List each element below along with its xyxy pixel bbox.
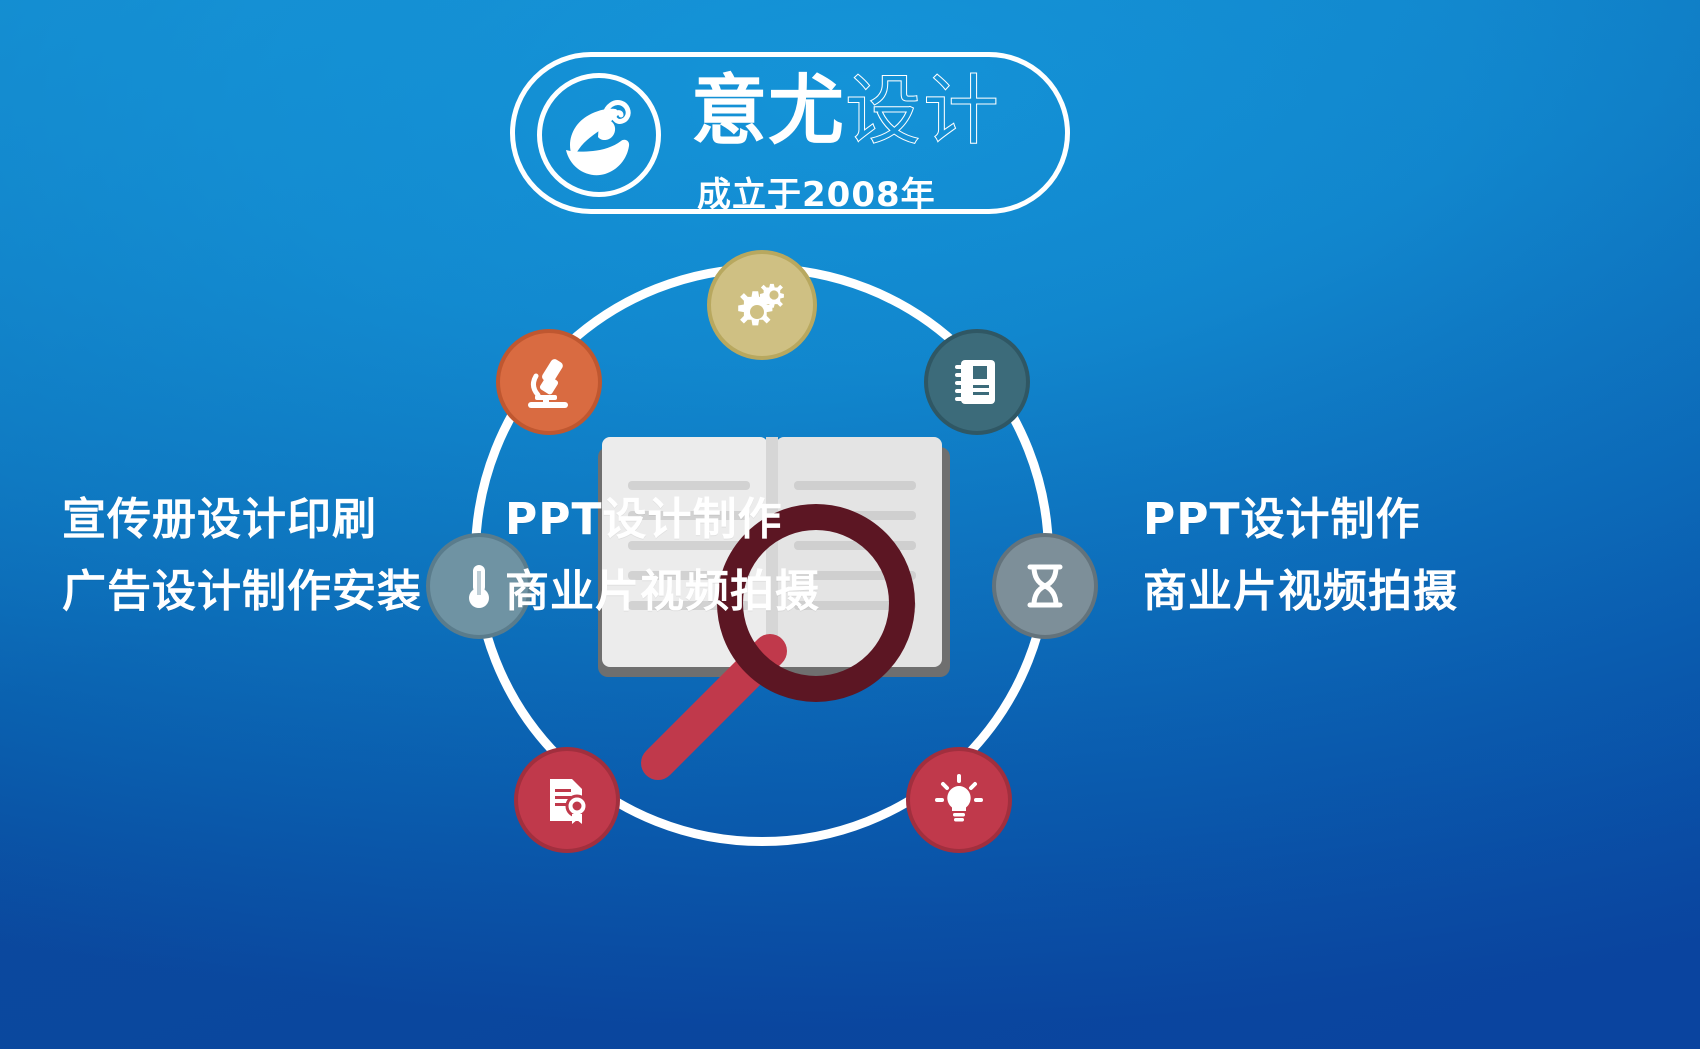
text-left-line-2: 广告设计制作安装 [62,556,422,628]
node-microscope[interactable] [496,329,602,435]
node-notebook[interactable] [924,329,1030,435]
leaf-swirl-icon [542,78,656,192]
logo-name: 意尤设计 [691,63,1001,180]
logo-mark-circle [537,73,661,197]
logo-name-thin: 设计 [845,66,1001,155]
text-right-line-2: 商业片视频拍摄 [1143,556,1458,628]
logo: 意尤设计 成立于2008年 [510,52,1070,214]
text-center-line-1: PPT设计制作 [505,484,820,556]
node-certificate[interactable] [514,747,620,853]
microscope-icon [518,351,580,413]
thermometer-icon [452,559,506,613]
text-block-left: 宣传册设计印刷 广告设计制作安装 [62,484,422,628]
certificate-icon [540,773,594,827]
gears-icon [731,274,793,336]
node-lightbulb[interactable] [906,747,1012,853]
slide-canvas: 意尤设计 成立于2008年 [0,0,1700,1049]
logo-name-bold: 意尤 [691,66,845,155]
logo-tagline: 成立于2008年 [697,167,936,216]
node-gears[interactable] [707,250,817,360]
text-center-line-2: 商业片视频拍摄 [505,556,820,628]
lightbulb-icon [931,772,987,828]
node-hourglass[interactable] [992,533,1098,639]
text-block-right: PPT设计制作 商业片视频拍摄 [1143,484,1458,628]
notebook-icon [949,354,1005,410]
text-right-line-1: PPT设计制作 [1143,484,1458,556]
text-left-line-1: 宣传册设计印刷 [62,484,422,556]
text-block-center: PPT设计制作 商业片视频拍摄 [505,484,820,628]
hourglass-icon [1018,559,1072,613]
